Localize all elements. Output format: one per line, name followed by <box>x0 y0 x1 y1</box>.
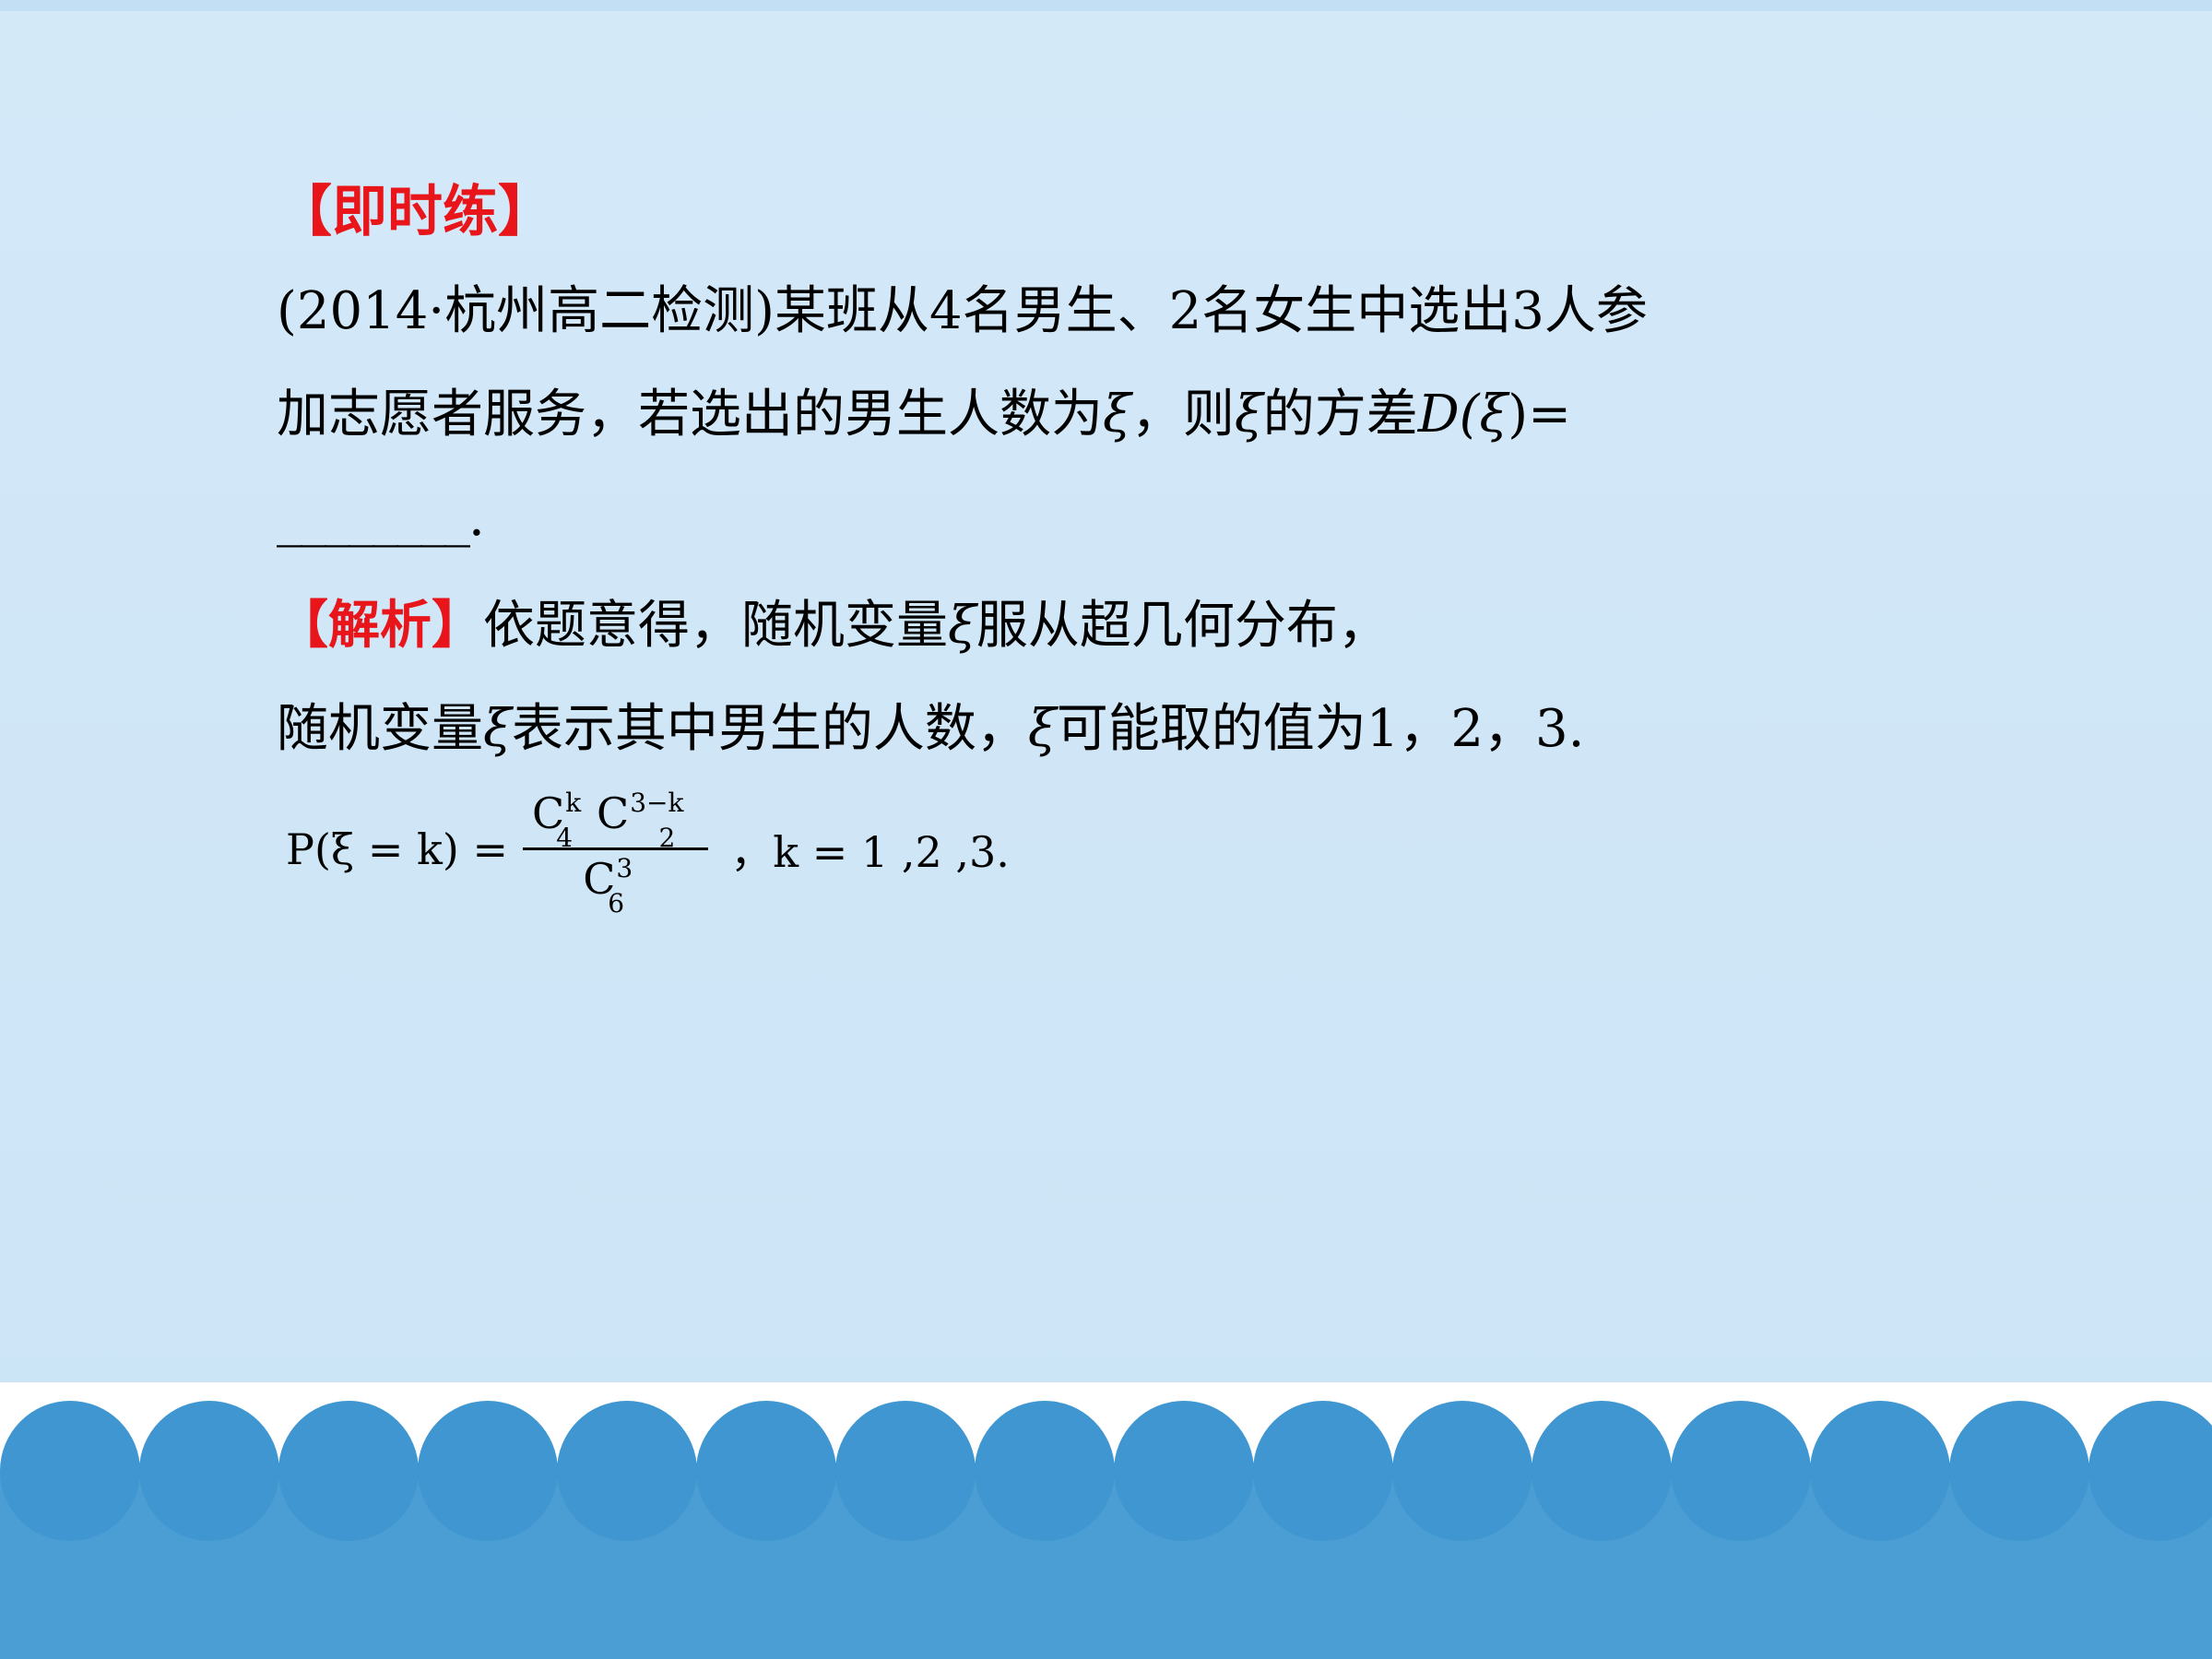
c4k-subscript: 4 <box>556 823 573 853</box>
bottom-decoration <box>0 1382 2212 1659</box>
c23k-superscript: 3−k <box>630 788 683 818</box>
solution-tag: 【解析】 <box>277 595 483 656</box>
xi-symbol-4: ξ <box>948 596 976 656</box>
scallop-circle <box>1253 1401 1393 1541</box>
solution-line-2-part-c: 可能取的值为1，2，3. <box>1057 699 1585 759</box>
scallop-circle <box>278 1401 419 1541</box>
variance-d: D( <box>1418 385 1480 444</box>
scallop-circle <box>2088 1401 2212 1541</box>
solution-line-2: 随机变量ξ表示其中男生的人数，ξ可能取的值为1，2，3. <box>277 704 1955 755</box>
scallop-circle <box>1114 1401 1254 1541</box>
scallop-circle <box>1392 1401 1532 1541</box>
scallop-circle <box>139 1401 279 1541</box>
solution-line-1-part-b: 服从超几何分布， <box>976 596 1390 656</box>
solution-line-1-part-a: 依题意得，随机变量 <box>483 596 948 656</box>
c4k-superscript: k <box>565 788 581 818</box>
question-line-2-part-c: 的方差 <box>1263 385 1418 444</box>
solution-line-2-part-a: 随机变量 <box>277 699 483 759</box>
formula-fraction: Ck4C3−k2 C36 <box>523 788 708 909</box>
scallop-circle <box>0 1401 140 1541</box>
combination-c2-3k: C3−k2 <box>597 788 699 844</box>
formula-numerator: Ck4C3−k2 <box>523 788 708 847</box>
scallop-circle <box>557 1401 697 1541</box>
c63-superscript: 3 <box>616 853 633 883</box>
formula-lhs: P(ξ = k) = <box>286 824 508 874</box>
scallop-circle <box>1949 1401 2089 1541</box>
scallop-circle <box>1671 1401 1811 1541</box>
question-line-2-part-e: )= <box>1508 385 1571 444</box>
question-line-2: 加志愿者服务，若选出的男生人数为ξ，则ξ的方差D(ξ)= <box>277 389 1955 441</box>
scallop-circle <box>696 1401 836 1541</box>
c63-subscript: 6 <box>608 888 624 918</box>
scallop-circle <box>1810 1401 1950 1541</box>
combination-c63: C36 <box>583 854 648 909</box>
xi-symbol-5: ξ <box>483 699 512 759</box>
solution-line-1: 【解析】依题意得，随机变量ξ服从超几何分布， <box>277 599 1955 652</box>
slide: 【即时练】 (2014·杭州高二检测)某班从4名男生、2名女生中选出3人参 加志… <box>0 0 2212 1659</box>
scallop-row <box>0 1401 2212 1521</box>
question-line-2-part-a: 加志愿者服务，若选出的男生人数为 <box>277 385 1103 444</box>
xi-symbol-6: ξ <box>1028 699 1057 759</box>
scallop-circle <box>1532 1401 1672 1541</box>
probability-formula: P(ξ = k) = Ck4C3−k2 C36 ，k = 1 ,2 ,3. <box>286 788 1955 909</box>
practice-tag-line: 【即时练】 <box>277 184 1955 240</box>
xi-symbol-2: ξ <box>1235 385 1263 444</box>
question-line-2-part-b: ，则 <box>1131 385 1235 444</box>
combination-c4k: Ck4 <box>532 788 597 844</box>
top-strip <box>0 0 2212 11</box>
question-line-1: (2014·杭州高二检测)某班从4名男生、2名女生中选出3人参 <box>277 286 1955 338</box>
practice-tag: 【即时练】 <box>277 180 553 244</box>
xi-symbol-1: ξ <box>1103 385 1131 444</box>
c23k-base: C <box>597 788 629 838</box>
formula-tail: ，k = 1 ,2 ,3. <box>730 819 1010 880</box>
xi-symbol-3: ξ <box>1479 385 1508 444</box>
scallop-circle <box>418 1401 558 1541</box>
formula-denominator: C36 <box>574 850 657 909</box>
slide-content: 【即时练】 (2014·杭州高二检测)某班从4名男生、2名女生中选出3人参 加志… <box>277 184 1955 909</box>
answer-blank: ________. <box>277 492 1955 544</box>
c23k-subscript: 2 <box>658 823 675 853</box>
solution-line-2-part-b: 表示其中男生的人数， <box>512 699 1028 759</box>
scallop-circle <box>975 1401 1115 1541</box>
scallop-circle <box>835 1401 976 1541</box>
